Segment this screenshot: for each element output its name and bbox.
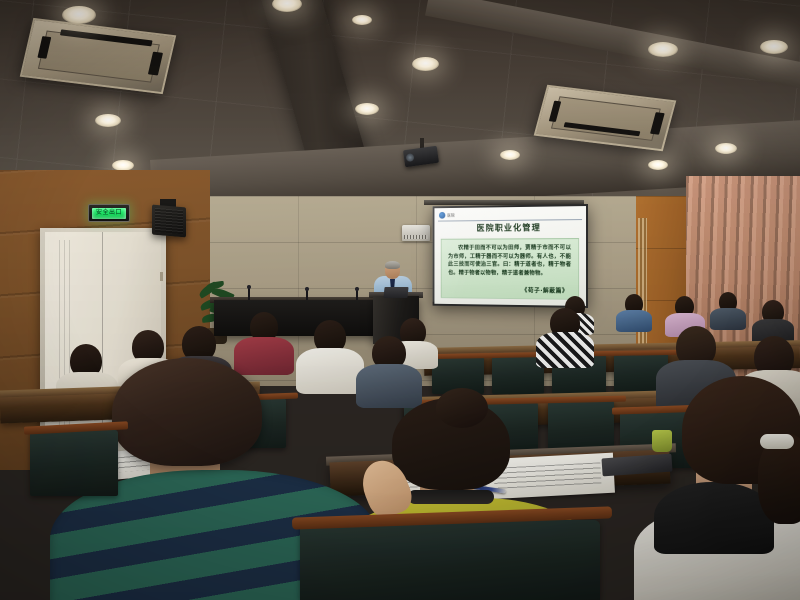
presentation-slide: 医院 医院职业化管理 农精于田而不可以为田师，贾精于市而不可以为市师，工精于器而… xyxy=(434,206,586,306)
auditorium-chair[interactable] xyxy=(300,520,600,600)
slide-logo: 医院 xyxy=(439,212,455,219)
audience-member xyxy=(536,308,592,362)
attendee-torso xyxy=(616,310,652,332)
slide-body-box: 农精于田而不可以为田师，贾精于市而不可以为市师，工精于器而不可以为器师。有人也，… xyxy=(441,238,579,300)
microphone-stem xyxy=(306,290,308,300)
audience-member xyxy=(620,294,648,328)
attendee-black-shoulder xyxy=(654,482,774,554)
ceiling-downlight xyxy=(95,114,121,127)
exit-sign-label: 安全出口 xyxy=(92,208,126,219)
ceiling-downlight xyxy=(715,143,737,154)
logo-mark-icon xyxy=(439,212,445,219)
attendee-necklace xyxy=(408,490,494,504)
ceiling-downlight xyxy=(500,150,520,160)
attendee-hair xyxy=(112,358,262,466)
ceiling-downlight xyxy=(352,15,372,25)
audience-member xyxy=(714,292,742,326)
lecture-room-photo: 安全出口 医院 医院职业化管理 农精于田而不可以为田师，贾精于市而不可以为市师，… xyxy=(0,0,800,600)
ceiling-downlight xyxy=(760,40,788,54)
audience-member xyxy=(756,300,790,340)
ceiling-downlight xyxy=(648,42,678,57)
microphone-stem xyxy=(248,288,250,300)
ceiling-downlight xyxy=(62,6,96,24)
presenter-hair xyxy=(385,261,400,269)
speaker-grill-icon xyxy=(155,208,183,234)
microphone-head-icon xyxy=(247,285,251,289)
wall-speaker xyxy=(152,205,186,238)
slide-divider xyxy=(438,219,582,222)
presenter-laptop[interactable] xyxy=(383,287,408,298)
attendee-torso xyxy=(536,332,594,368)
ceiling-downlight xyxy=(355,103,379,115)
microphone-head-icon xyxy=(305,287,309,291)
door-hinge xyxy=(160,272,163,281)
projection-screen: 医院 医院职业化管理 农精于田而不可以为田师，贾精于市而不可以为市师，工精于器而… xyxy=(433,204,588,308)
ac-vent-panel xyxy=(550,96,661,141)
microphone-head-icon xyxy=(355,287,359,291)
ac-vent-icon xyxy=(404,235,428,239)
foreground-right-attendee xyxy=(640,376,800,600)
slide-citation: 《苟子·解蔽篇》 xyxy=(522,285,569,294)
ceiling-downlight xyxy=(412,57,439,71)
wall-air-conditioner xyxy=(402,225,430,241)
hair-tie xyxy=(760,434,794,449)
ceiling-downlight xyxy=(648,160,668,170)
slide-body-text: 农精于田而不可以为田师，贾精于市而不可以为市师，工精于器而不可以为器师。有人也，… xyxy=(448,244,571,278)
slide-title: 医院职业化管理 xyxy=(434,224,586,234)
exit-sign: 安全出口 xyxy=(88,204,130,222)
slide-logo-text: 医院 xyxy=(447,213,455,217)
auditorium-chair[interactable] xyxy=(30,430,118,496)
attendee-hair-bun xyxy=(436,388,488,428)
projector-lens-icon xyxy=(406,153,415,162)
microphone-stem xyxy=(356,290,358,300)
